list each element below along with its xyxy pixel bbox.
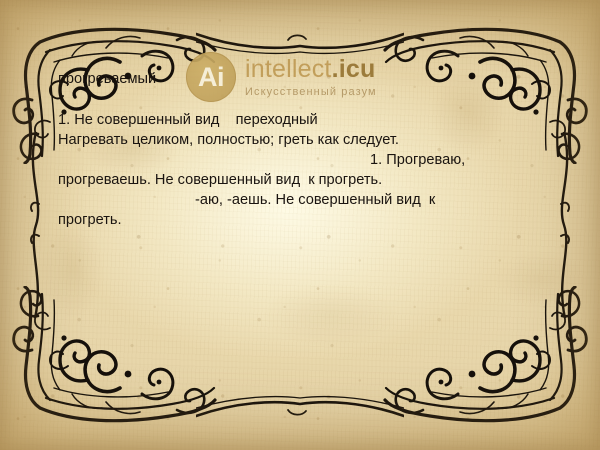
entry-line: прогреваешь. Не совершенный вид к прогре… xyxy=(58,170,382,190)
document-text: прогреваемый 1. Не совершенный вид перех… xyxy=(0,0,600,450)
entry-line: -аю, -аешь. Не совершенный вид к xyxy=(195,190,435,210)
parchment-page: Ai intellect.icu Искусственный разум про… xyxy=(0,0,600,450)
entry-line: Нагревать целиком, полностью; греть как … xyxy=(58,130,399,150)
entry-line: прогреть. xyxy=(58,210,122,230)
entry-line: 1. Не совершенный вид переходный xyxy=(58,110,318,130)
entry-line: 1. Прогреваю, xyxy=(370,150,465,170)
headword: прогреваемый xyxy=(58,69,156,89)
